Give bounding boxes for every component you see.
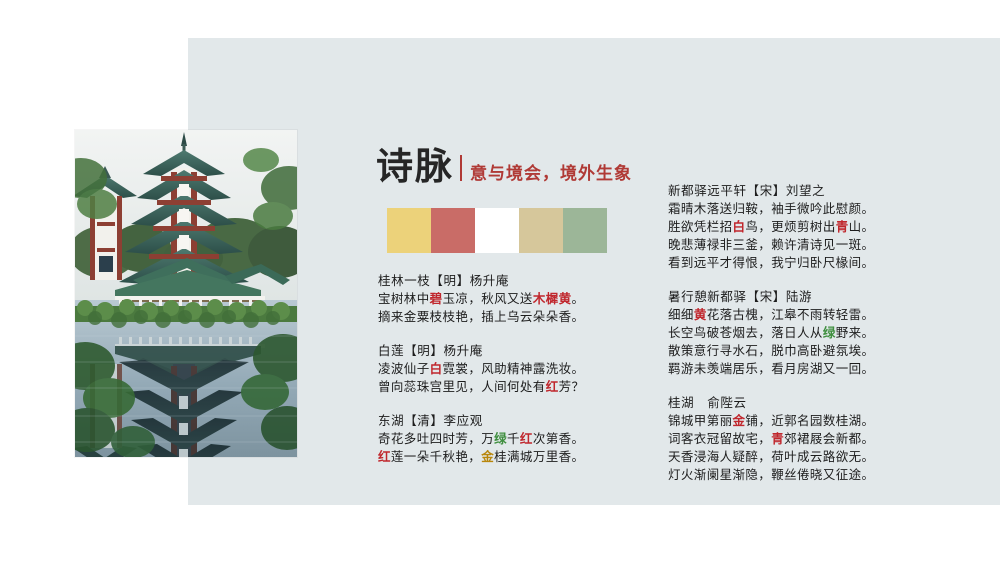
- highlight-red: 黄: [694, 307, 707, 322]
- poem-line: 红莲一朵千秋艳，金桂满城万里香。: [378, 448, 640, 466]
- poem-line: 奇花多吐四时芳，万绿千红次第香。: [378, 430, 640, 448]
- poem-line: 凌波仙子白霓裳，风助精神露洗妆。: [378, 360, 640, 378]
- highlight-red: 红: [520, 431, 533, 446]
- poem-column-left: 桂林一枝【明】杨升庵宝树林中碧玉凉，秋风又送木樨黄。摘来金粟枝枝艳，插上乌云朵朵…: [378, 272, 640, 466]
- swatch-yellow: [387, 208, 431, 253]
- poem-text: 霓裳，风助精神露洗妆。: [443, 361, 585, 376]
- poem-line: 胜欲凭栏招白鸟，更烦剪树出青山。: [668, 218, 968, 236]
- poem-line: 散策意行寻水石，脱巾高卧避氛埃。: [668, 342, 968, 360]
- poem-text: 凌波仙子: [378, 361, 430, 376]
- poem-line: 宝树林中碧玉凉，秋风又送木樨黄。: [378, 290, 640, 308]
- poem-line: 霜晴木落送归鞍，袖手微吟此慰颜。: [668, 200, 968, 218]
- poem-text: 野来。: [836, 325, 875, 340]
- brand-header: 诗脉 意与境会，境外生象: [376, 148, 632, 185]
- poem-text: 莲一朵千秋艳，: [391, 449, 481, 464]
- poem-text: 山。: [849, 219, 875, 234]
- poem-text: 郊裙屐会新都。: [784, 431, 874, 446]
- poem-line: 摘来金粟枝枝艳，插上乌云朵朵香。: [378, 308, 640, 326]
- poem-text: 铺，近郭名园数桂湖。: [745, 413, 874, 428]
- highlight-red: 白: [733, 219, 746, 234]
- poem-text: 千: [507, 431, 520, 446]
- poem-block: 桂林一枝【明】杨升庵宝树林中碧玉凉，秋风又送木樨黄。摘来金粟枝枝艳，插上乌云朵朵…: [378, 272, 640, 326]
- swatch-tan: [519, 208, 563, 253]
- highlight-red: 红: [546, 379, 559, 394]
- poem-text: 奇花多吐四时芳，万: [378, 431, 494, 446]
- highlight-red: 白: [430, 361, 443, 376]
- color-swatch-row: [387, 208, 607, 253]
- poem-text: 玉凉，秋风又送: [443, 291, 533, 306]
- poem-block: 暑行憩新都驿【宋】陆游细细黄花落古槐，江皋不雨转轻雷。长空鸟破苍烟去，落日人从绿…: [668, 288, 968, 378]
- poem-text: 胜欲凭栏招: [668, 219, 733, 234]
- highlight-red: 红: [378, 449, 391, 464]
- poem-title: 东湖【清】李应观: [378, 412, 640, 430]
- poem-text: 词客衣冠留故宅，: [668, 431, 771, 446]
- poem-line: 灯火渐阑星渐隐，鞭丝倦晓又征途。: [668, 466, 968, 484]
- poem-line: 锦城甲第丽金铺，近郭名园数桂湖。: [668, 412, 968, 430]
- swatch-white: [475, 208, 519, 253]
- poem-line: 细细黄花落古槐，江皋不雨转轻雷。: [668, 306, 968, 324]
- swatch-green: [563, 208, 607, 253]
- poem-text: 长空鸟破苍烟去，落日人从: [668, 325, 823, 340]
- highlight-gold: 金: [481, 449, 494, 464]
- poem-text: 散策意行寻水石，脱巾高卧避氛埃。: [668, 343, 874, 358]
- poem-text: 曾向蕊珠宫里见，人间何处有: [378, 379, 546, 394]
- poem-text: 霜晴木落送归鞍，袖手微吟此慰颜。: [668, 201, 874, 216]
- highlight-green: 绿: [494, 431, 507, 446]
- poem-line: 词客衣冠留故宅，青郊裙屐会新都。: [668, 430, 968, 448]
- poem-text: 晚悲薄禄非三釜，赖许清诗见一斑。: [668, 237, 874, 252]
- poem-text: 次第香。: [533, 431, 585, 446]
- poem-text: 花落古槐，江皋不雨转轻雷。: [707, 307, 875, 322]
- poem-text: 鸟，更烦剪树出: [745, 219, 835, 234]
- poem-block: 桂湖 俞陛云锦城甲第丽金铺，近郭名园数桂湖。词客衣冠留故宅，青郊裙屐会新都。天香…: [668, 394, 968, 484]
- poem-text: 。: [572, 291, 585, 306]
- poem-title: 白莲【明】杨升庵: [378, 342, 640, 360]
- poem-text: 锦城甲第丽: [668, 413, 733, 428]
- poem-line: 曾向蕊珠宫里见，人间何处有红芳？: [378, 378, 640, 396]
- pagoda-photo-illustration: [75, 130, 297, 457]
- poem-block: 白莲【明】杨升庵凌波仙子白霓裳，风助精神露洗妆。曾向蕊珠宫里见，人间何处有红芳？: [378, 342, 640, 396]
- poem-block: 东湖【清】李应观奇花多吐四时芳，万绿千红次第香。红莲一朵千秋艳，金桂满城万里香。: [378, 412, 640, 466]
- pagoda-photo: [75, 130, 297, 457]
- poem-text: 天香浸海人疑醉，荷叶成云路欲无。: [668, 449, 874, 464]
- poem-title: 暑行憩新都驿【宋】陆游: [668, 288, 968, 306]
- poem-line: 长空鸟破苍烟去，落日人从绿野来。: [668, 324, 968, 342]
- poem-line: 羁游未羡端居乐，看月房湖又一回。: [668, 360, 968, 378]
- highlight-red: 青: [771, 431, 784, 446]
- highlight-green: 绿: [823, 325, 836, 340]
- poem-block: 新都驿远平轩【宋】刘望之霜晴木落送归鞍，袖手微吟此慰颜。胜欲凭栏招白鸟，更烦剪树…: [668, 182, 968, 272]
- poem-text: 宝树林中: [378, 291, 430, 306]
- highlight-red: 木樨黄: [533, 291, 572, 306]
- poem-column-right: 新都驿远平轩【宋】刘望之霜晴木落送归鞍，袖手微吟此慰颜。胜欲凭栏招白鸟，更烦剪树…: [668, 182, 968, 484]
- poem-text: 灯火渐阑星渐隐，鞭丝倦晓又征途。: [668, 467, 874, 482]
- swatch-red: [431, 208, 475, 253]
- poem-text: 摘来金粟枝枝艳，插上乌云朵朵香。: [378, 309, 584, 324]
- poem-text: 细细: [668, 307, 694, 322]
- poem-text: 看到远平才得恨，我宁归卧尺椽间。: [668, 255, 874, 270]
- title-divider: [460, 155, 462, 181]
- poem-line: 天香浸海人疑醉，荷叶成云路欲无。: [668, 448, 968, 466]
- highlight-red: 碧: [430, 291, 443, 306]
- page-subtitle: 意与境会，境外生象: [470, 159, 632, 184]
- poem-title: 新都驿远平轩【宋】刘望之: [668, 182, 968, 200]
- poem-line: 看到远平才得恨，我宁归卧尺椽间。: [668, 254, 968, 272]
- highlight-red: 青: [836, 219, 849, 234]
- poem-line: 晚悲薄禄非三釜，赖许清诗见一斑。: [668, 236, 968, 254]
- poem-text: 芳？: [559, 379, 585, 394]
- poem-title: 桂湖 俞陛云: [668, 394, 968, 412]
- page-title: 诗脉: [376, 148, 454, 185]
- poem-title: 桂林一枝【明】杨升庵: [378, 272, 640, 290]
- poem-text: 羁游未羡端居乐，看月房湖又一回。: [668, 361, 874, 376]
- highlight-red: 金: [733, 413, 746, 428]
- poem-text: 桂满城万里香。: [494, 449, 584, 464]
